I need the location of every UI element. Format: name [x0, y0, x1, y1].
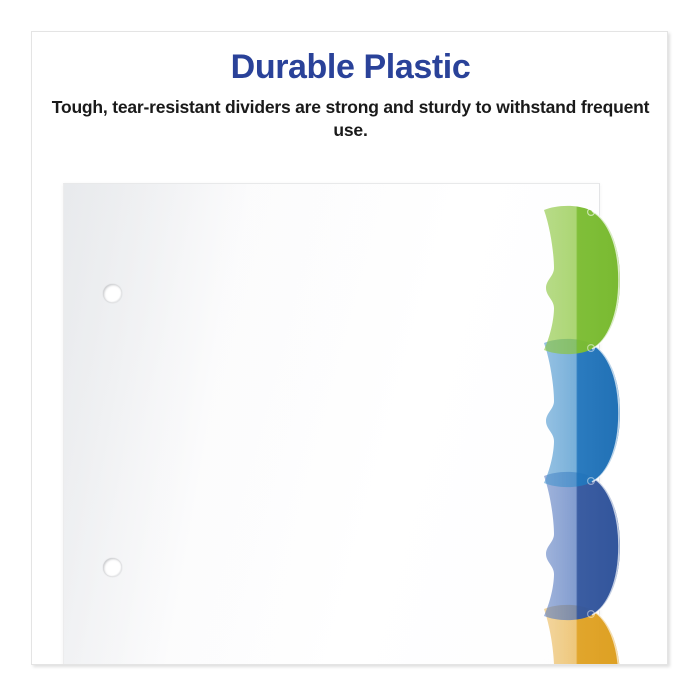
page-title: Durable Plastic	[32, 47, 668, 87]
page-subtitle: Tough, tear-resistant dividers are stron…	[50, 96, 651, 142]
divider-sheet	[63, 183, 600, 665]
hole-punch-bottom	[103, 558, 122, 577]
headline-block: Durable Plastic Tough, tear-resistant di…	[32, 47, 668, 142]
hole-punch-top	[103, 284, 122, 303]
product-photo-frame: Durable Plastic Tough, tear-resistant di…	[31, 31, 668, 665]
sheet-sheen-overlay	[64, 184, 599, 665]
